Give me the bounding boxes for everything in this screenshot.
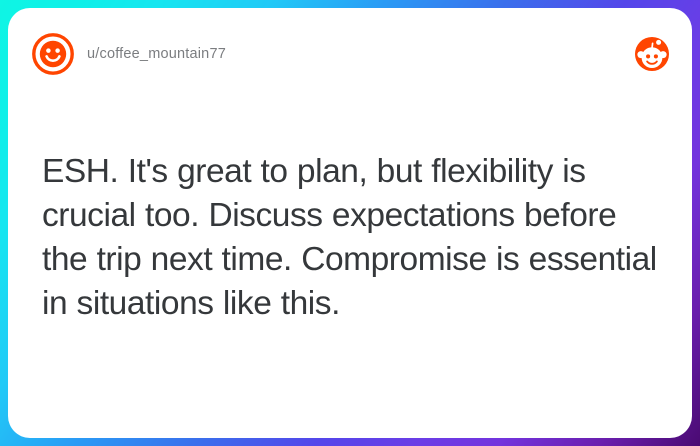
smiley-face-avatar-icon[interactable] [32,33,74,75]
post-card: u/coffee_mountain77 ESH. It's great to p… [8,8,692,438]
author-username: u/coffee_mountain77 [87,46,226,62]
author-block[interactable]: u/coffee_mountain77 [32,33,634,75]
reddit-snoo-logo-icon[interactable] [634,36,670,72]
gradient-background: u/coffee_mountain77 ESH. It's great to p… [0,0,700,446]
post-text: ESH. It's great to plan, but flexibility… [42,150,666,326]
post-header: u/coffee_mountain77 [8,8,692,100]
post-body: ESH. It's great to plan, but flexibility… [42,150,666,326]
